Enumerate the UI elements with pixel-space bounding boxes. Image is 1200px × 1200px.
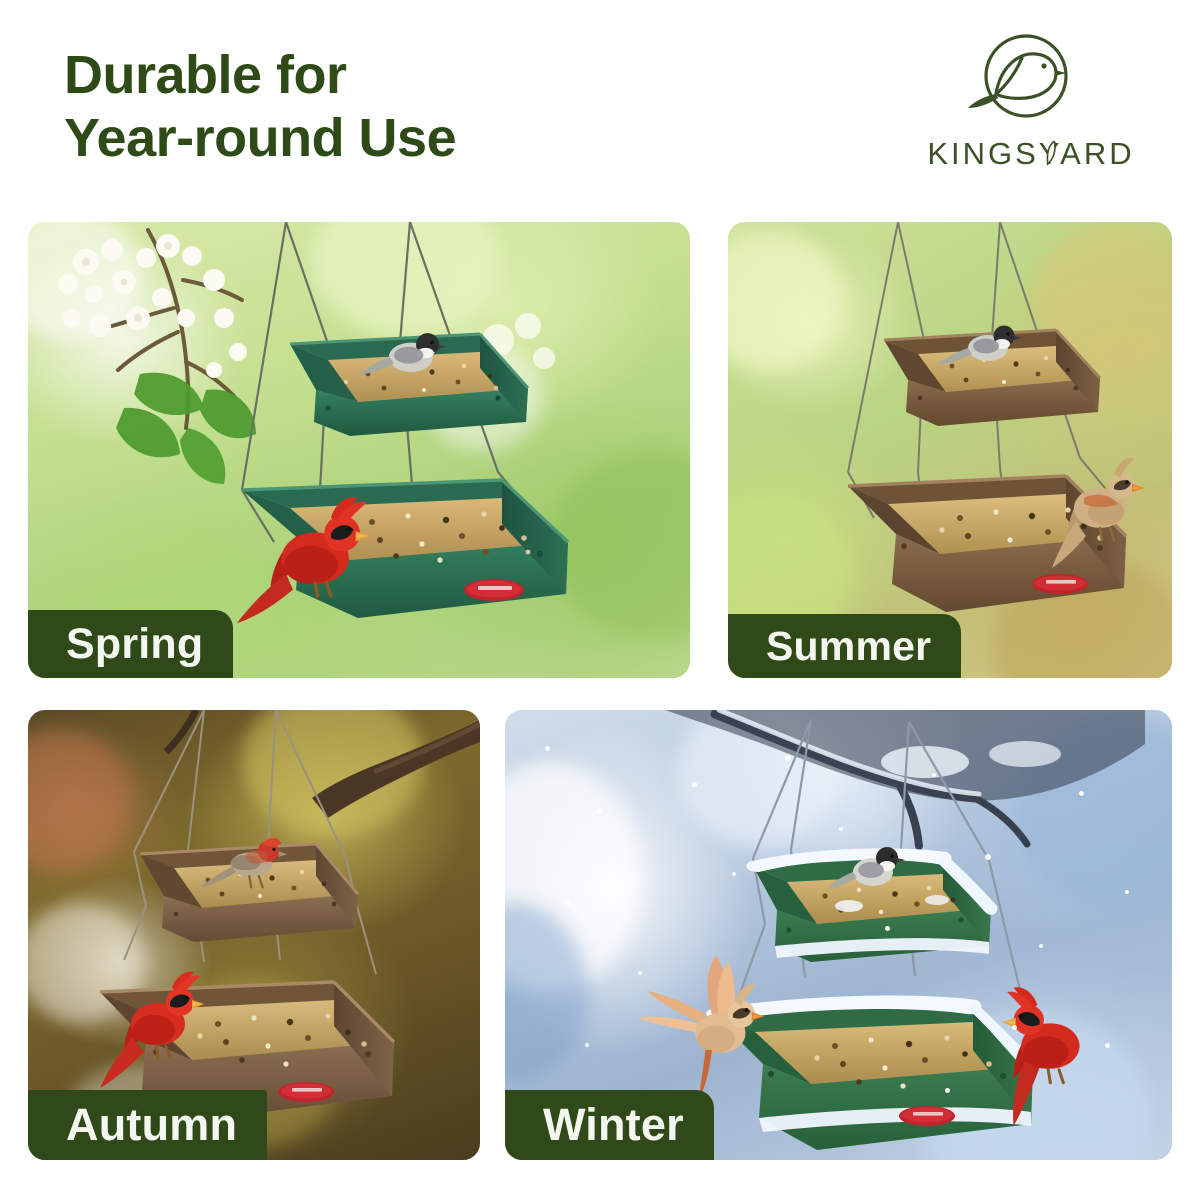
summer-scene-photo: [728, 222, 1172, 678]
brand-logo: KINGSYARD: [900, 28, 1162, 178]
bird-in-circle-icon: [960, 28, 1078, 132]
season-tile-autumn[interactable]: Autumn: [28, 710, 480, 1160]
season-badge-spring: Spring: [28, 610, 233, 678]
product-brand-badge: [464, 579, 524, 601]
season-badge-summer: Summer: [728, 614, 961, 678]
season-badge-autumn: Autumn: [28, 1090, 267, 1160]
product-brand-badge: [899, 1106, 955, 1126]
season-tile-spring[interactable]: Spring: [28, 222, 690, 678]
bird-feeder-summer: [728, 222, 1172, 678]
page-title: Durable for Year-round Use: [64, 44, 456, 169]
brand-wordmark-text: KINGSYARD: [927, 136, 1134, 172]
season-tile-summer[interactable]: Summer: [728, 222, 1172, 678]
brand-wordmark: KINGSYARD: [900, 136, 1162, 172]
product-brand-badge: [278, 1082, 334, 1102]
season-badge-winter: Winter: [505, 1090, 714, 1160]
season-tile-winter[interactable]: Winter: [505, 710, 1172, 1160]
header: Durable for Year-round Use KINGSYARD: [0, 0, 1200, 222]
product-brand-badge: [1032, 574, 1088, 594]
